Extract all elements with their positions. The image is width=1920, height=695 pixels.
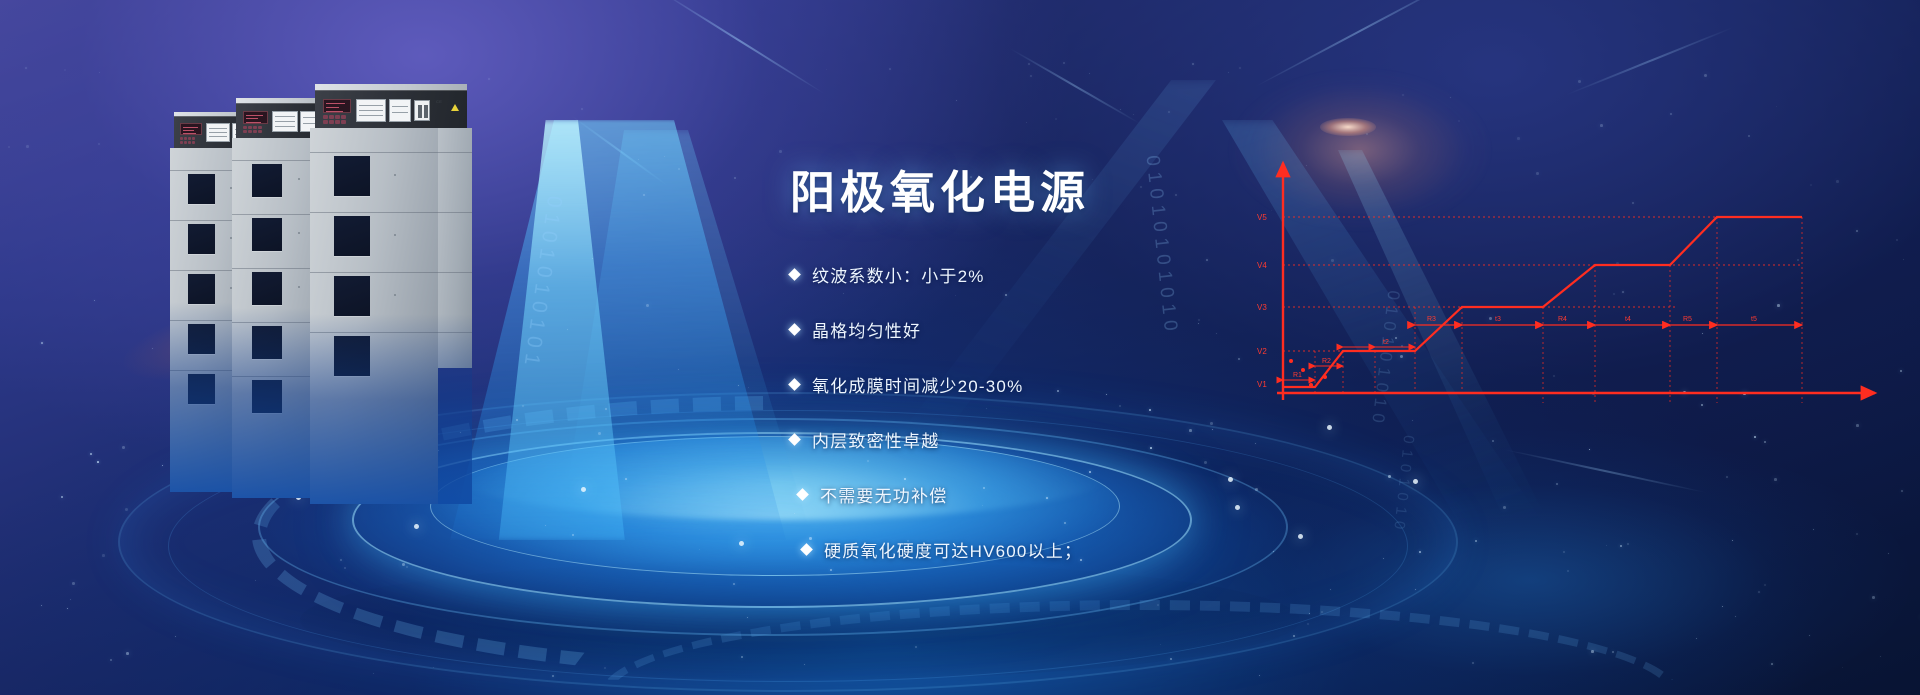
list-item: 晶格均匀性好 bbox=[790, 317, 1350, 342]
list-item: 硬质氧化硬度可达HV600以上； bbox=[790, 537, 1350, 562]
warning-triangle-icon bbox=[451, 104, 459, 111]
segment-label-r3: R3 bbox=[1427, 316, 1436, 323]
light-streak-icon bbox=[655, 0, 826, 95]
light-streak-icon bbox=[1566, 26, 1733, 95]
lens-flare-core bbox=[1320, 118, 1376, 136]
banner-content: 阳极氧化电源 纹波系数小：小于2% 晶格均匀性好 氧化成膜时间减少20-30% … bbox=[790, 168, 1350, 592]
feature-text: 不需要无功补偿 bbox=[820, 482, 947, 507]
light-streak-icon bbox=[571, 115, 669, 187]
voltage-ramp-svg: V5 V4 V3 V2 V1 R1 R2 t2 bbox=[1255, 155, 1895, 415]
binary-decoration: 0101010101 bbox=[518, 194, 566, 372]
feature-text: 内层致密性卓越 bbox=[812, 427, 939, 452]
equipment-light-beam-core bbox=[470, 120, 650, 540]
list-item: 纹波系数小：小于2% bbox=[790, 262, 1350, 287]
segment-label-t5: t5 bbox=[1751, 316, 1757, 323]
segment-label-r5: R5 bbox=[1683, 316, 1692, 323]
level-gridlines bbox=[1283, 217, 1802, 351]
list-item: 不需要无功补偿 bbox=[790, 482, 1350, 507]
page-title: 阳极氧化电源 bbox=[790, 168, 1350, 218]
segment-label-t2: t2 bbox=[1383, 339, 1389, 346]
light-streak-icon bbox=[1502, 448, 1708, 494]
cabinet-badge-label: CE bbox=[436, 99, 442, 104]
power-cabinet-front: CE bbox=[310, 84, 472, 504]
podium-dashed-arc-2 bbox=[600, 600, 1680, 695]
diamond-bullet-icon bbox=[788, 378, 801, 391]
time-gridlines bbox=[1315, 217, 1802, 403]
binary-decoration: 0101010 bbox=[1390, 434, 1417, 536]
voltage-ramp-diagram: V5 V4 V3 V2 V1 R1 R2 t2 bbox=[1255, 155, 1895, 415]
diamond-bullet-icon bbox=[800, 543, 813, 556]
feature-text: 晶格均匀性好 bbox=[812, 317, 921, 342]
segment-label-t4: t4 bbox=[1625, 316, 1631, 323]
power-cabinet-group: CE bbox=[170, 84, 490, 504]
light-streak-icon bbox=[1010, 48, 1141, 124]
segment-label-t3: t3 bbox=[1495, 316, 1501, 323]
voltage-curve bbox=[1283, 217, 1802, 387]
feature-text: 纹波系数小：小于2% bbox=[812, 262, 985, 287]
diamond-bullet-icon bbox=[796, 488, 809, 501]
segment-label-r4: R4 bbox=[1558, 316, 1567, 323]
feature-list: 纹波系数小：小于2% 晶格均匀性好 氧化成膜时间减少20-30% 内层致密性卓越… bbox=[790, 262, 1350, 562]
light-streak-icon bbox=[1254, 0, 1467, 88]
feature-text: 硬质氧化硬度可达HV600以上； bbox=[824, 537, 1082, 562]
diamond-bullet-icon bbox=[788, 433, 801, 446]
list-item: 内层致密性卓越 bbox=[790, 427, 1350, 452]
banner-stage: CE 0101010101 01010101010 010101010 0101… bbox=[0, 0, 1920, 695]
list-item: 氧化成膜时间减少20-30% bbox=[790, 372, 1350, 397]
diamond-bullet-icon bbox=[788, 268, 801, 281]
diamond-bullet-icon bbox=[788, 323, 801, 336]
feature-text: 氧化成膜时间减少20-30% bbox=[812, 372, 1023, 397]
